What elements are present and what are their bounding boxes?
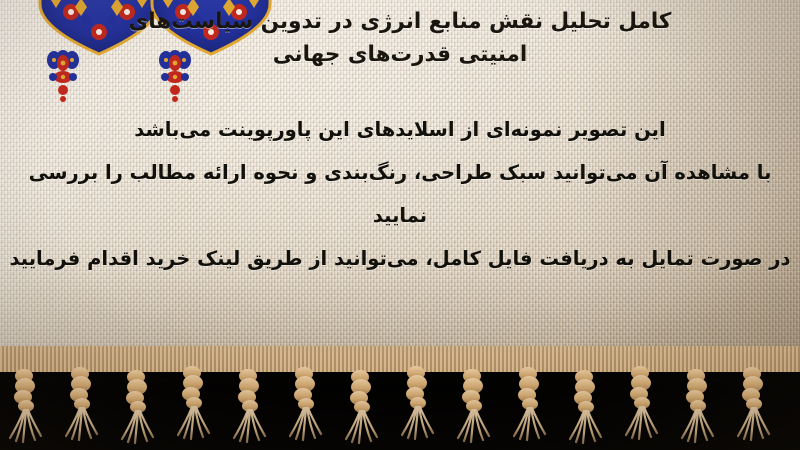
body-line-1: این تصویر نمونه‌ای از اسلایدهای این پاور… [0,108,800,151]
fringe-svg [0,358,800,450]
carpet-fringe-tassels [0,358,800,450]
slide-title-line-2: امنیتی قدرت‌های جهانی [0,37,800,72]
slide-title: کامل تحلیل نقش منابع انرژی در تدوین سیاس… [0,4,800,72]
body-line-3: در صورت تمایل به دریافت فایل کامل، می‌تو… [0,237,800,280]
slide-title-line-1: کامل تحلیل نقش منابع انرژی در تدوین سیاس… [0,4,800,39]
body-line-2: با مشاهده آن می‌توانید سبک طراحی، رنگ‌بن… [0,151,800,237]
slide-body-text: این تصویر نمونه‌ای از اسلایدهای این پاور… [0,108,800,280]
presentation-slide: کامل تحلیل نقش منابع انرژی در تدوین سیاس… [0,0,800,450]
